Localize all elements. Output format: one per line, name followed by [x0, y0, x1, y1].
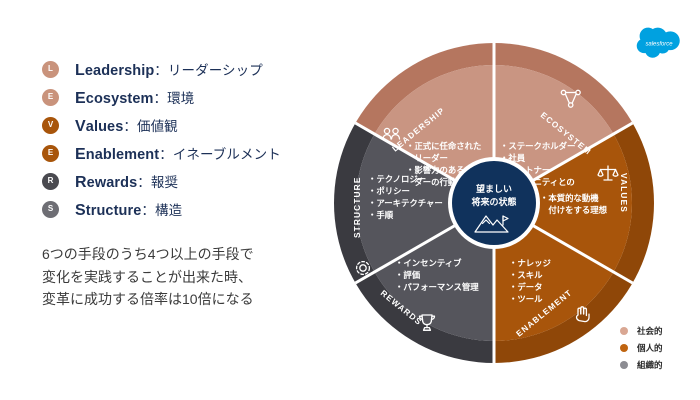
legend-label-organizational: 組織的 — [637, 359, 663, 371]
note-line-1: 6つの手段のうち4つ以上の手段で — [42, 243, 332, 266]
acronym-rest: nablement — [86, 147, 159, 163]
acronym-badge-r: R — [42, 173, 59, 190]
svg-text:・手順: ・手順 — [368, 210, 394, 220]
legend-dot-personal — [620, 344, 628, 352]
six-levers-wheel: LEADERSHIP ECOSYSTEM VALUES ENABLEMENT R… — [333, 42, 655, 364]
svg-text:・正式に任命された: ・正式に任命された — [406, 141, 481, 151]
legend-dot-organizational — [620, 361, 628, 369]
acronym-item-leadership: L Leadership：リーダーシップ — [42, 55, 322, 83]
svg-text:・テクノロジー: ・テクノロジー — [368, 174, 426, 184]
acronym-label-values: Values：価値観 — [75, 115, 178, 136]
center-label-line2: 将来の状態 — [471, 196, 516, 207]
acronym-japanese: 価値観 — [137, 119, 178, 134]
acronym-separator: ： — [159, 147, 173, 162]
acronym-japanese: 環境 — [167, 91, 194, 106]
legend-dot-social — [620, 327, 628, 335]
acronym-initial: S — [75, 202, 86, 219]
acronym-badge-e2: E — [42, 145, 59, 162]
acronym-rest: alues — [86, 119, 124, 135]
acronym-item-enablement: E Enablement：イネーブルメント — [42, 139, 322, 167]
acronym-item-values: V Values：価値観 — [42, 111, 322, 139]
acronym-rest: ewards — [87, 175, 138, 191]
acronym-initial: R — [75, 174, 87, 191]
acronym-label-enablement: Enablement：イネーブルメント — [75, 143, 281, 164]
acronym-rest: tructure — [86, 203, 142, 219]
acronym-separator: ： — [153, 91, 167, 106]
acronym-initial: L — [75, 62, 85, 79]
acronym-label-leadership: Leadership：リーダーシップ — [75, 59, 263, 80]
acronym-legend: L Leadership：リーダーシップ E Ecosystem：環境 V Va… — [42, 55, 322, 223]
acronym-rest: eadership — [85, 63, 154, 79]
acronym-initial: V — [75, 118, 86, 135]
svg-text:・データ: ・データ — [509, 282, 543, 292]
legend-item-organizational: 組織的 — [620, 356, 663, 373]
center-label-line1: 望ましい — [476, 183, 512, 194]
acronym-separator: ： — [137, 175, 151, 190]
summary-note: 6つの手段のうち4つ以上の手段で 変化を実践することが出来た時、 変革に成功する… — [42, 243, 332, 311]
svg-text:・インセンティブ: ・インセンティブ — [395, 258, 462, 268]
acronym-badge-s: S — [42, 201, 59, 218]
acronym-japanese: リーダーシップ — [168, 63, 263, 78]
svg-text:・ポリシー: ・ポリシー — [368, 186, 410, 196]
legend-item-social: 社会的 — [620, 322, 663, 339]
acronym-separator: ： — [123, 119, 137, 134]
acronym-initial: E — [75, 90, 86, 107]
acronym-label-rewards: Rewards：報奨 — [75, 171, 178, 192]
legend-label-social: 社会的 — [637, 325, 663, 337]
acronym-item-rewards: R Rewards：報奨 — [42, 167, 322, 195]
acronym-label-structure: Structure：構造 — [75, 199, 182, 220]
acronym-item-ecosystem: E Ecosystem：環境 — [42, 83, 322, 111]
legend-item-personal: 個人的 — [620, 339, 663, 356]
svg-text:付けをする理想: 付けをする理想 — [540, 205, 608, 215]
acronym-initial: E — [75, 146, 86, 163]
segment-title-structure: STRUCTURE — [352, 176, 362, 238]
infographic-root: L Leadership：リーダーシップ E Ecosystem：環境 V Va… — [0, 0, 700, 400]
legend-label-personal: 個人的 — [637, 342, 663, 354]
svg-text:・評価: ・評価 — [395, 270, 421, 280]
acronym-japanese: 構造 — [155, 203, 182, 218]
acronym-badge-v: V — [42, 117, 59, 134]
note-line-3: 変革に成功する倍率は10倍になる — [42, 288, 332, 311]
svg-text:リーダー: リーダー — [406, 153, 448, 163]
acronym-badge-l: L — [42, 61, 59, 78]
acronym-badge-e1: E — [42, 89, 59, 106]
acronym-label-ecosystem: Ecosystem：環境 — [75, 87, 194, 108]
wheel-center: 望ましい 将来の状態 — [448, 157, 540, 249]
wheel-color-legend: 社会的 個人的 組織的 — [620, 322, 663, 373]
acronym-separator: ： — [154, 63, 168, 78]
svg-text:・ナレッジ: ・ナレッジ — [509, 258, 551, 268]
segment-title-values: VALUES — [619, 173, 629, 213]
acronym-item-structure: S Structure：構造 — [42, 195, 322, 223]
svg-text:・ステークホルダー: ・ステークホルダー — [500, 141, 575, 151]
svg-text:・ツール: ・ツール — [509, 294, 543, 304]
note-line-2: 変化を実践することが出来た時、 — [42, 266, 332, 289]
svg-text:・アーキテクチャー: ・アーキテクチャー — [368, 198, 443, 208]
acronym-rest: cosystem — [86, 91, 154, 107]
svg-text:・本質的な動機: ・本質的な動機 — [540, 193, 599, 203]
acronym-japanese: イネーブルメント — [173, 147, 281, 162]
acronym-japanese: 報奨 — [151, 175, 178, 190]
svg-text:・パフォーマンス管理: ・パフォーマンス管理 — [395, 282, 479, 292]
svg-text:・スキル: ・スキル — [509, 270, 543, 280]
acronym-separator: ： — [141, 203, 155, 218]
